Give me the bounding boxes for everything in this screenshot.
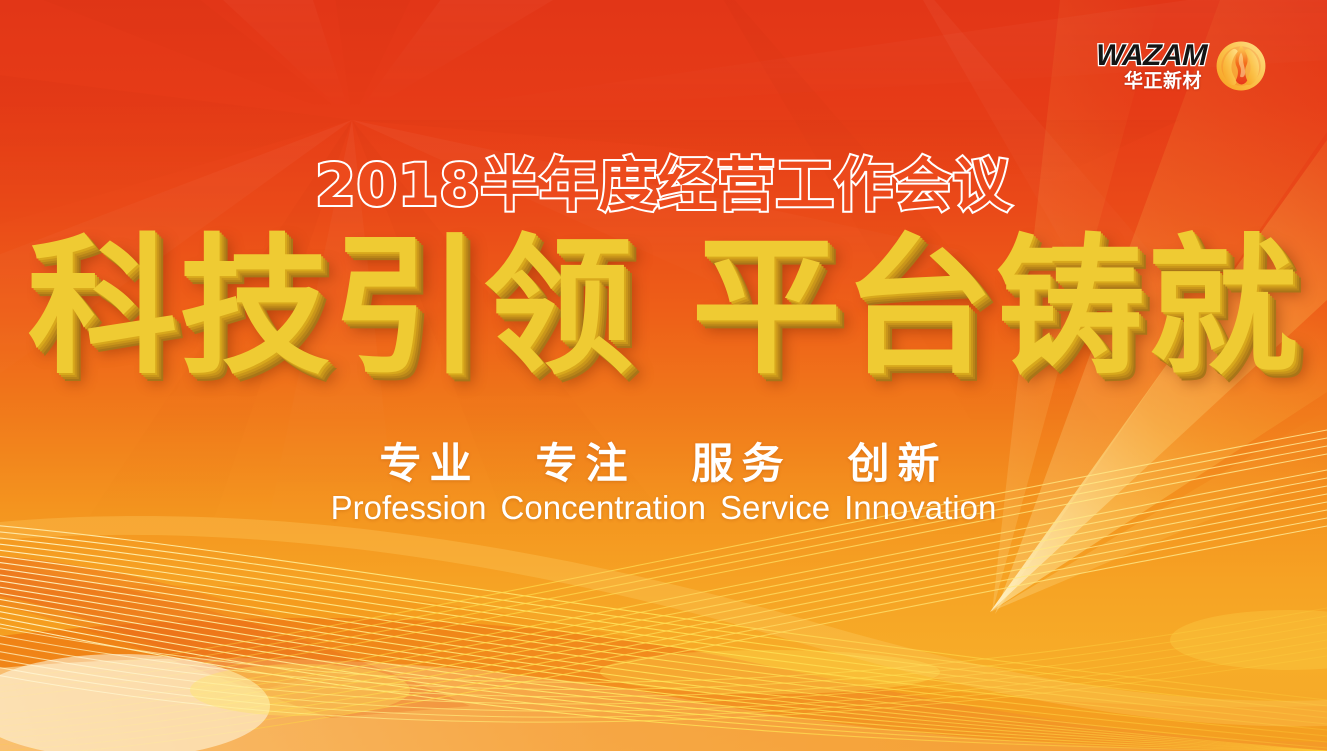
brand-name-en: WAZAM	[1095, 41, 1207, 71]
core-values-en: ProfessionConcentrationServiceInnovation	[0, 489, 1327, 527]
event-title: 2018半年度经营工作会议	[0, 138, 1327, 222]
value-en-3: Service	[720, 489, 830, 527]
brand-logo: WAZAM 华正新材	[1096, 34, 1272, 98]
conference-banner: WAZAM 华正新材	[0, 0, 1327, 751]
main-slogan-right: 平台铸就	[692, 221, 1300, 395]
main-slogan: 科技引领平台铸就	[0, 232, 1327, 385]
flame-circle-icon	[1215, 40, 1267, 92]
value-cn-4: 创新	[848, 430, 948, 491]
value-en-1: Profession	[331, 489, 487, 527]
value-en-4: Innovation	[844, 489, 996, 527]
main-slogan-left: 科技引领	[27, 221, 635, 395]
value-en-2: Concentration	[501, 489, 706, 527]
brand-wordmark: WAZAM 华正新材	[1096, 41, 1207, 91]
value-cn-2: 专注	[535, 430, 635, 491]
brand-name-cn: 华正新材	[1124, 72, 1202, 91]
value-cn-3: 服务	[692, 430, 792, 491]
value-cn-1: 专业	[379, 430, 479, 491]
core-values-cn: 专业专注服务创新	[0, 430, 1327, 491]
